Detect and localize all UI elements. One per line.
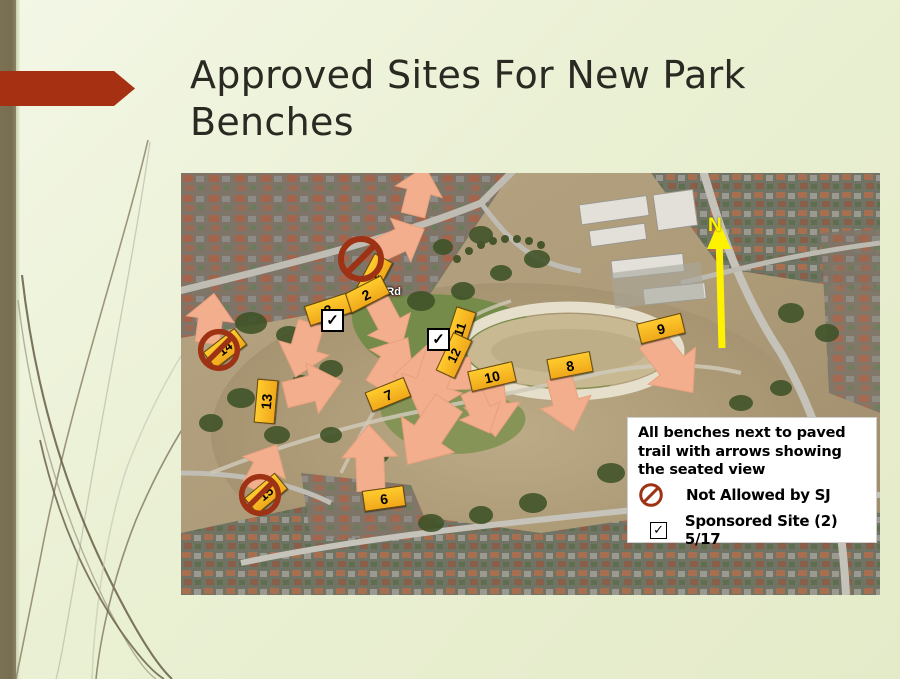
legend-note-line-1: All benches next to paved [638,424,870,443]
north-arrow-icon [707,221,731,348]
not-allowed-icon-site-1 [337,235,385,283]
not-allowed-icon [638,482,664,508]
site-number-label: 9 [655,320,666,337]
site-number-label: 7 [381,386,394,404]
site-number-label: 8 [565,357,576,374]
page-title: Approved Sites For New Park Benches [190,52,810,146]
sponsored-checkbox-site-11[interactable]: ✓ [427,328,450,351]
site-number-label: 6 [379,490,389,507]
legend-note-line-3: the seated view [638,461,870,480]
legend-row-sponsored: ✓ Sponsored Site (2) 5/17 [638,512,876,548]
legend-note: All benches next to paved trail with arr… [638,424,870,480]
site-marker-13[interactable]: 13 [254,379,279,425]
map-legend: All benches next to paved trail with arr… [627,417,877,543]
not-allowed-icon-site-15 [238,473,282,517]
accent-arrow-banner [0,71,135,106]
legend-note-line-2: trail with arrows showing [638,443,870,462]
slide-canvas: Approved Sites For New Park Benches [0,0,900,679]
north-label: N [708,215,722,237]
site-number-label: 13 [257,393,274,410]
site-number-label: 10 [483,367,502,386]
site-number-label: 2 [359,286,373,304]
legend-label-sponsored: Sponsored Site (2) 5/17 [685,512,876,548]
legend-row-not-allowed: Not Allowed by SJ [638,482,830,508]
sponsored-checkbox-site-3[interactable]: ✓ [321,309,344,332]
not-allowed-icon-site-14 [197,328,241,372]
checkbox-checked-icon: ✓ [650,522,667,539]
legend-label-not-allowed: Not Allowed by SJ [686,486,830,504]
